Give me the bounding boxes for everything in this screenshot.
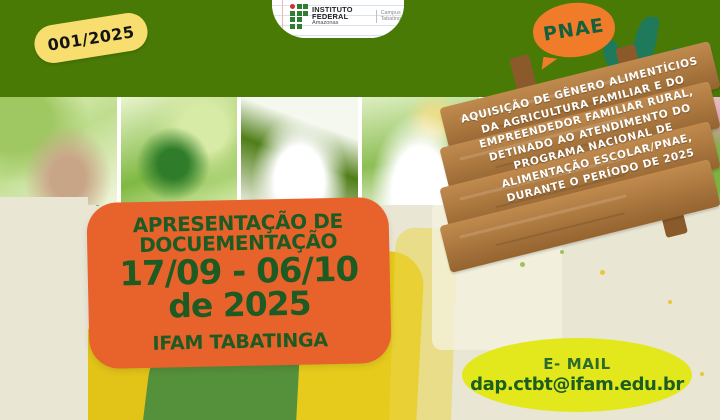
ifam-logo-line2: Amazonas	[312, 21, 369, 27]
card-location: IFAM TABATINGA	[152, 329, 328, 355]
decor-speck	[668, 300, 672, 304]
poster-canvas: INSTITUTO FEDERAL Amazonas Campus Tabati…	[0, 0, 720, 420]
decor-cream-column	[0, 197, 88, 420]
ifam-logo: INSTITUTO FEDERAL Amazonas Campus Tabati…	[290, 4, 404, 29]
email-label: E- MAIL	[543, 355, 611, 373]
card-year: de 2025	[168, 286, 311, 322]
decor-speck	[520, 262, 525, 267]
decor-speck	[560, 250, 564, 254]
ifam-logo-text: INSTITUTO FEDERAL Amazonas	[312, 6, 369, 27]
photo-greens	[241, 97, 358, 205]
email-badge: E- MAIL dap.ctbt@ifam.edu.br	[462, 338, 692, 412]
notebook-margin-line	[282, 0, 283, 38]
email-address[interactable]: dap.ctbt@ifam.edu.br	[470, 374, 684, 395]
campus-label: Campus	[381, 10, 404, 17]
edital-number-text: 001/2025	[46, 22, 136, 54]
campus-name: Tabatinga	[381, 16, 404, 23]
ifam-campus-text: Campus Tabatinga	[376, 10, 404, 24]
ifam-logo-panel: INSTITUTO FEDERAL Amazonas Campus Tabati…	[272, 0, 404, 38]
pnae-label: PNAE	[542, 14, 606, 45]
photo-avocado-potato	[0, 97, 117, 205]
decor-speck	[600, 270, 605, 275]
ifam-grid-icon	[290, 4, 308, 29]
decor-speck	[700, 372, 704, 376]
photo-broccoli	[121, 97, 238, 205]
ifam-logo-line1: INSTITUTO FEDERAL	[312, 6, 369, 22]
wooden-sign: AQUISIÇÃO DE GÊNERO ALIMENTÍCIOS DA AGRI…	[455, 52, 720, 242]
documentation-card: APRESENTAÇÃO DE DOCUEMENTAÇÃO 17/09 - 06…	[86, 197, 391, 369]
